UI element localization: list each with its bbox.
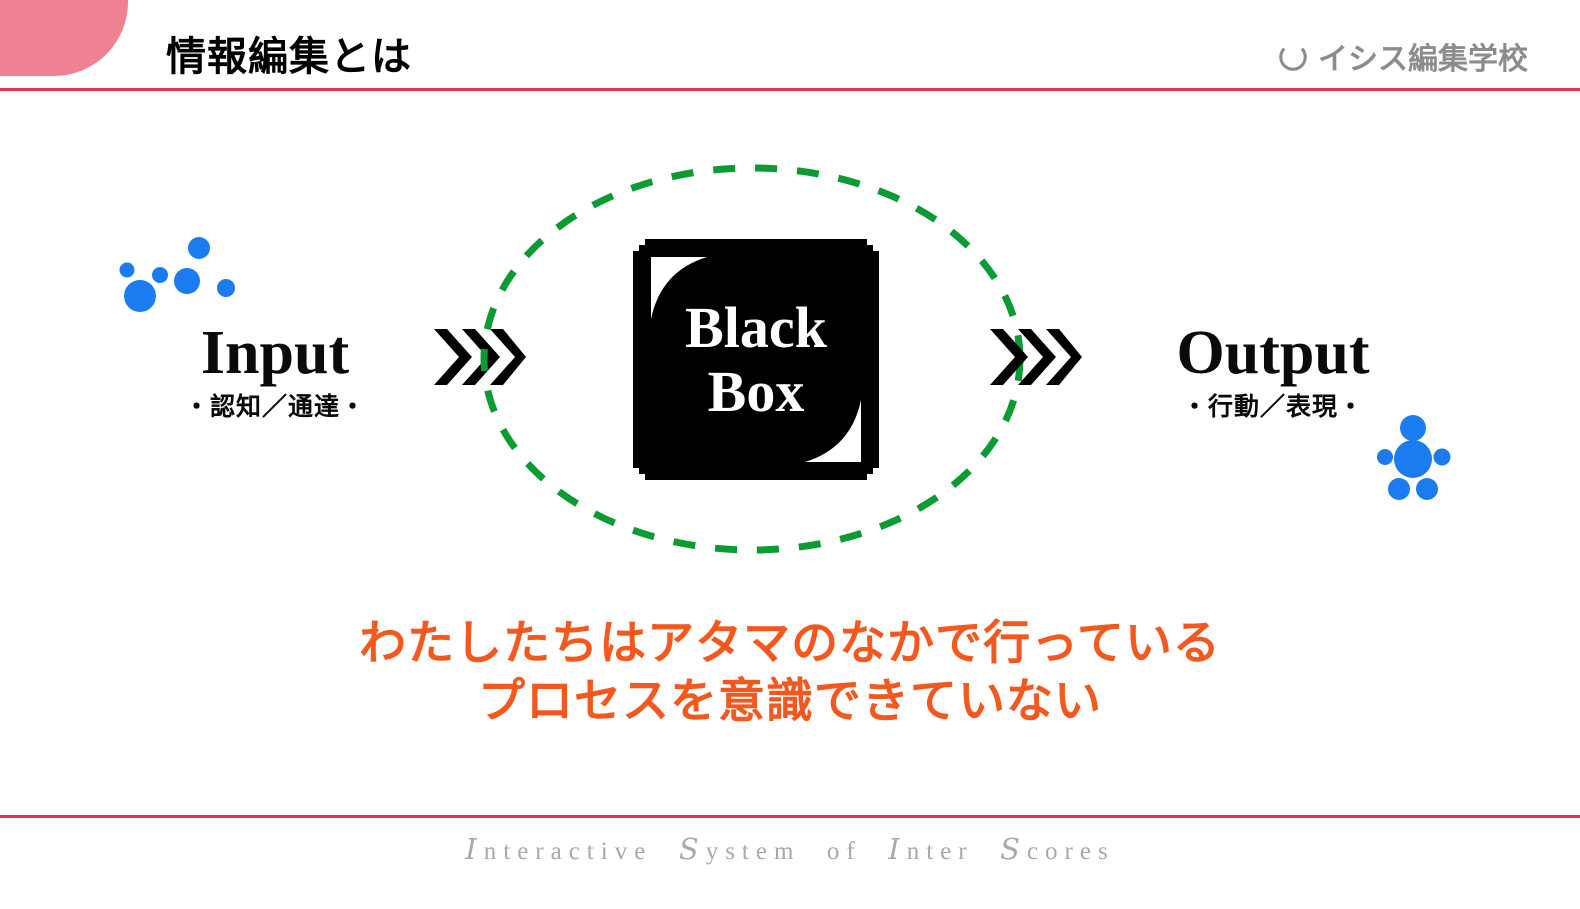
flow-diagram: Input ・認知／通達・ Black (0, 0, 1580, 909)
footer-word-5: cores (1027, 838, 1115, 865)
black-box-graphic: Black Box (631, 237, 881, 482)
footer-cap-3: I (888, 832, 906, 866)
black-box-line2: Box (708, 360, 805, 424)
output-title: Output (1108, 318, 1438, 388)
footer-cap-4: S (1000, 832, 1027, 866)
footer-word-1: nteractive (484, 838, 653, 865)
output-dots-cluster-icon (1368, 412, 1458, 502)
black-box-label: Black Box (631, 237, 881, 482)
footer-word-2: ystem (706, 838, 801, 865)
footer-tagline: Interactive System of Inter Scores (0, 832, 1580, 869)
output-stage: Output ・行動／表現・ (1108, 318, 1438, 424)
key-message: わたしたちはアタマのなかで行っている プロセスを意識できていない (0, 614, 1580, 730)
black-box-line1: Black (685, 296, 827, 360)
input-title: Input (110, 318, 440, 388)
slide-root: 情報編集とは イシス編集学校 Input ・認知／通達・ (0, 0, 1580, 909)
input-subtitle: ・認知／通達・ (110, 390, 440, 424)
key-message-line2: プロセスを意識できていない (0, 672, 1580, 730)
key-message-line1: わたしたちはアタマのなかで行っている (0, 614, 1580, 672)
footer-word-4: nter (907, 838, 974, 865)
footer-word-3: of (827, 838, 862, 865)
input-dots-cluster-icon (110, 230, 250, 330)
footer-divider (0, 815, 1580, 818)
footer-cap-1: I (465, 832, 483, 866)
chevrons-right-right-icon (990, 328, 1082, 386)
footer-cap-2: S (679, 832, 706, 866)
input-stage: Input ・認知／通達・ (110, 318, 440, 424)
